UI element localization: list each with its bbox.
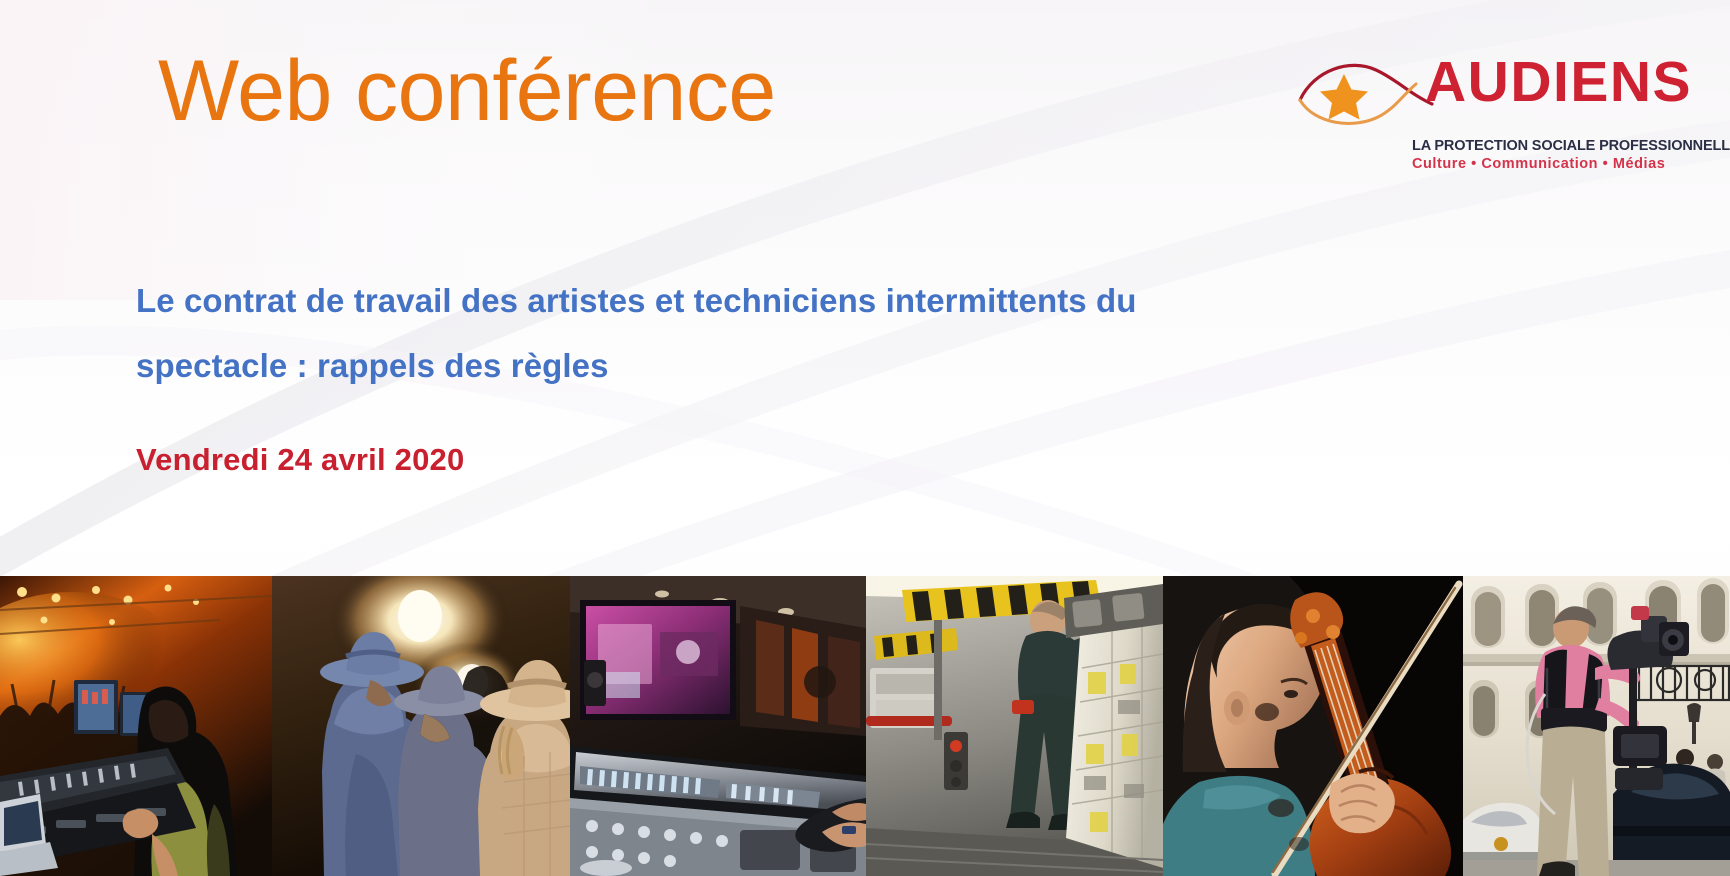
logo-row: AUDIENS [1292, 46, 1660, 132]
logo-tagline: LA PROTECTION SOCIALE PROFESSIONNELLE Cu… [1412, 138, 1660, 175]
photo-cellist-performer [1163, 576, 1463, 876]
event-date: Vendredi 24 avril 2020 [136, 441, 1286, 478]
photo-audience-stage-lights [272, 576, 570, 876]
slide-body: Le contrat de travail des artistes et te… [136, 268, 1286, 478]
photo-sound-engineer-concert [0, 576, 272, 876]
photo-strip [0, 576, 1730, 876]
audiens-logo: AUDIENS LA PROTECTION SOCIALE PROFESSION… [1292, 46, 1660, 186]
photo-printing-press-technician [866, 576, 1163, 876]
photo-steadicam-operator-street [1463, 576, 1730, 876]
presentation-slide: Web conférence AUDIENS LA PROTECTION SOC… [0, 0, 1730, 876]
subject-line-1: Le contrat de travail des artistes et te… [136, 268, 1286, 333]
page-title: Web conférence [158, 48, 776, 134]
logo-wordmark: AUDIENS [1425, 54, 1692, 111]
logo-tagline-line-1: LA PROTECTION SOCIALE PROFESSIONNELLE [1412, 138, 1660, 155]
eye-with-star-icon [1292, 54, 1440, 132]
subject-line-2: spectacle : rappels des règles [136, 333, 1286, 398]
logo-tagline-line-2: Culture • Communication • Médias [1412, 155, 1660, 175]
photo-broadcast-control-room [570, 576, 866, 876]
